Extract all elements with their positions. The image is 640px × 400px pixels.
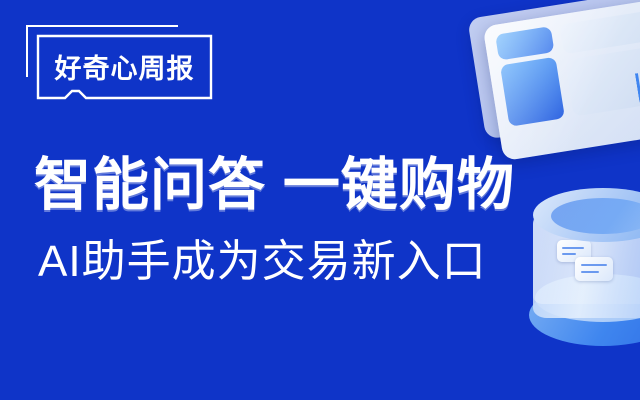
card-tile-pale-top (559, 9, 640, 55)
cylinder-base (529, 284, 640, 346)
chat-cylinder-illustration (519, 188, 640, 363)
headline: 智能问答 一键购物 (34, 156, 515, 216)
dashboard-card-sheen (483, 0, 640, 161)
cylinder-top-inner (551, 198, 640, 234)
cylinder-glass-sheen (533, 214, 640, 304)
dashboard-card-back (467, 0, 640, 140)
chat-bubble-lower (575, 257, 613, 281)
subheadline: AI助手成为交易新入口 (38, 238, 487, 286)
card-tile-pale-bottom (565, 44, 640, 116)
brand-badge: 好奇心周报 (36, 34, 213, 100)
chat-bubble-upper (557, 240, 591, 262)
curve-accent-icon (635, 66, 640, 120)
chat-bubble-icon (557, 240, 617, 284)
badge-label: 好奇心周报 (36, 34, 213, 100)
dashboard-card-front (483, 0, 640, 161)
cylinder-top (533, 188, 640, 242)
promo-banner: 好奇心周报 智能问答 一键购物 AI助手成为交易新入口 (0, 0, 640, 400)
chat-bubble-line (581, 271, 599, 273)
card-tile-blue-large (500, 57, 565, 127)
chat-bubble-line (562, 253, 576, 255)
cylinder-base-cap (535, 274, 640, 322)
chat-bubble-line (581, 264, 607, 266)
chat-bubble-line (562, 247, 584, 249)
cylinder-body (533, 214, 640, 318)
card-tile-blue-small (495, 26, 554, 60)
